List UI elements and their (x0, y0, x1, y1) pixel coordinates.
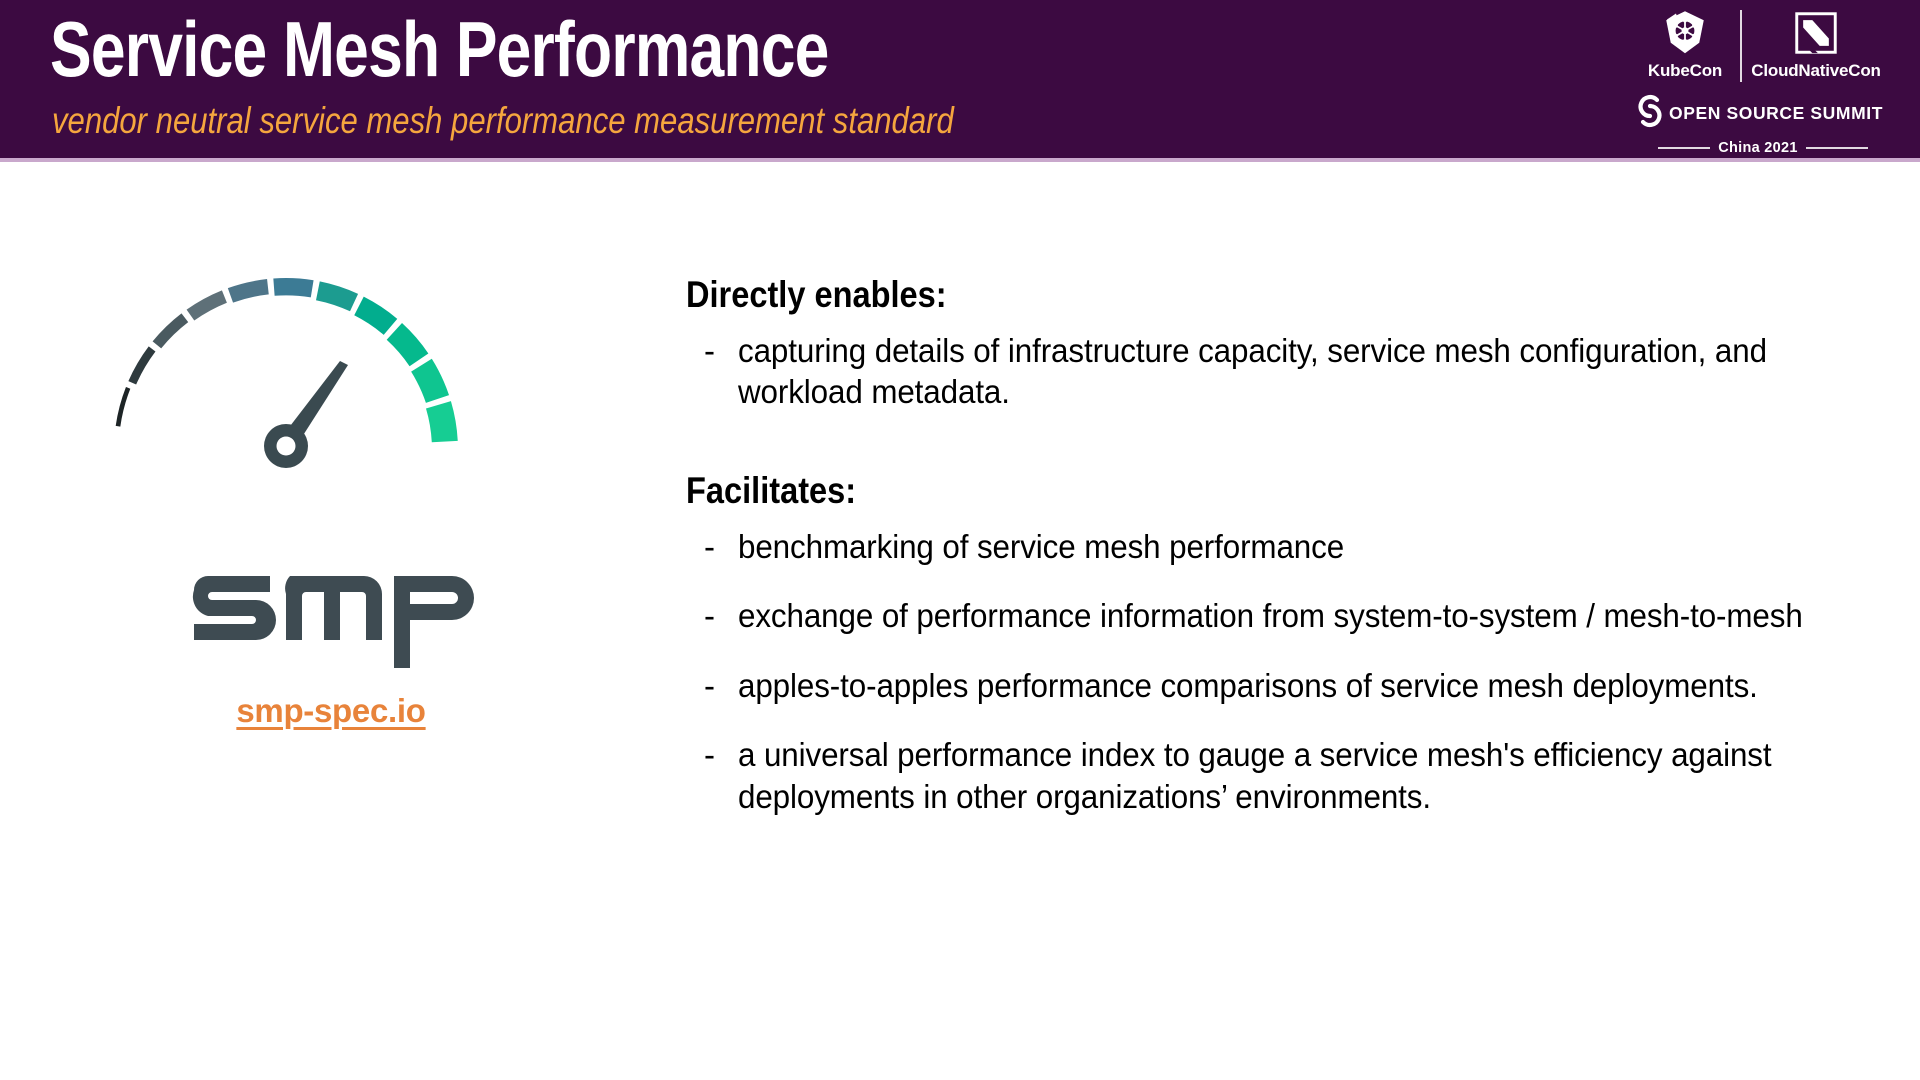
bullet-text: benchmarking of service mesh performance (738, 526, 1819, 568)
gauge-segment (387, 323, 429, 366)
bullet-marker: - (686, 526, 738, 568)
conference-logo-top-row: KubeCon CloudNativeCon (1630, 8, 1890, 88)
list-item: - benchmarking of service mesh performan… (686, 526, 1876, 568)
section-facilitates: Facilitates: - benchmarking of service m… (686, 471, 1876, 818)
bullet-text: exchange of performance information from… (738, 595, 1819, 637)
logo-vertical-divider (1740, 10, 1742, 82)
bullet-marker: - (686, 734, 738, 817)
gauge-segment (153, 313, 189, 348)
conference-logo: KubeCon CloudNativeCon (1630, 8, 1890, 152)
gauge-segment (354, 297, 397, 335)
smp-logo-panel: smp-spec.io (96, 262, 566, 782)
page-subtitle: vendor neutral service mesh performance … (52, 100, 954, 142)
section-spacer (686, 441, 1876, 471)
header-underline-divider (0, 158, 1920, 162)
cloudnativecon-logo-group: CloudNativeCon (1742, 8, 1884, 81)
list-item: - a universal performance index to gauge… (686, 734, 1876, 817)
section-heading: Directly enables: (686, 275, 1733, 316)
location-year-row: China 2021 (1636, 140, 1890, 156)
content-column: Directly enables: - capturing details of… (686, 275, 1876, 845)
bullet-text: capturing details of infrastructure capa… (738, 330, 1819, 413)
smp-spec-link[interactable]: smp-spec.io (96, 692, 566, 730)
bullet-marker: - (686, 595, 738, 637)
kubernetes-helm-icon (1661, 8, 1709, 58)
gauge-segment (187, 290, 227, 320)
cncf-square-icon (1794, 8, 1838, 58)
kubecon-logo-group: KubeCon (1630, 8, 1740, 81)
rule-left (1658, 147, 1710, 149)
section-directly-enables: Directly enables: - capturing details of… (686, 275, 1876, 413)
gauge-segment (116, 387, 131, 427)
open-source-summit-text: OPEN SOURCE SUMMIT (1669, 103, 1883, 124)
page-title: Service Mesh Performance (50, 7, 829, 91)
gauge-segment (273, 278, 313, 297)
open-source-summit-row: OPEN SOURCE SUMMIT (1632, 91, 1890, 136)
list-item: - apples-to-apples performance compariso… (686, 665, 1876, 707)
kubecon-label: KubeCon (1648, 61, 1722, 81)
bullet-list: - capturing details of infrastructure ca… (686, 330, 1876, 413)
slide-root: Service Mesh Performance vendor neutral … (0, 0, 1920, 1080)
bullet-list: - benchmarking of service mesh performan… (686, 526, 1876, 818)
gauge-segment (228, 279, 269, 303)
bullet-marker: - (686, 665, 738, 707)
gauge-segment (411, 359, 449, 403)
list-item: - exchange of performance information fr… (686, 595, 1876, 637)
location-year-label: China 2021 (1718, 140, 1798, 156)
gauge-segment (316, 281, 358, 311)
list-item: - capturing details of infrastructure ca… (686, 330, 1876, 413)
gauge-segment (128, 346, 155, 384)
open-source-summit-s-icon (1632, 91, 1668, 136)
bullet-marker: - (686, 330, 738, 413)
gauge-segment (426, 401, 458, 442)
rule-right (1806, 147, 1868, 149)
cloudnativecon-label: CloudNativeCon (1751, 61, 1880, 81)
gauge-needle (264, 361, 348, 468)
section-heading: Facilitates: (686, 471, 1733, 512)
bullet-text: a universal performance index to gauge a… (738, 734, 1819, 817)
smp-wordmark (96, 562, 566, 682)
bullet-text: apples-to-apples performance comparisons… (738, 665, 1819, 707)
